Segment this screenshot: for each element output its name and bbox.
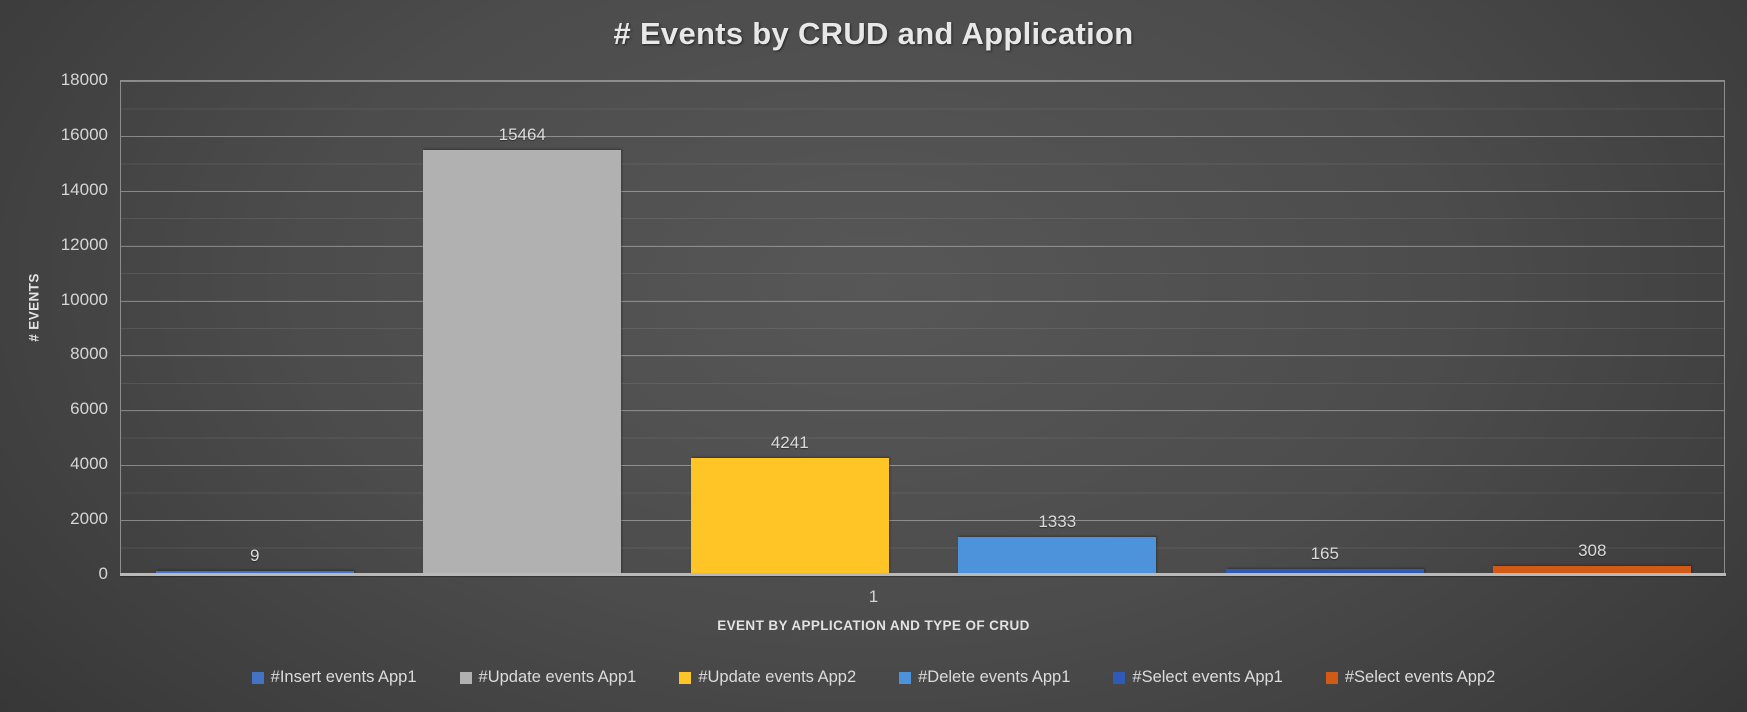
bar-value-label: 1333 xyxy=(1038,512,1076,532)
gridline xyxy=(121,191,1724,192)
minor-gridlines xyxy=(121,81,1724,574)
legend-item[interactable]: #Update events App1 xyxy=(460,668,637,687)
legend-label: #Update events App1 xyxy=(479,668,637,687)
plot-area: 91546442411333165308 xyxy=(120,80,1725,574)
legend-label: #Delete events App1 xyxy=(918,668,1070,687)
legend-swatch-icon xyxy=(679,672,691,684)
chart-title: # Events by CRUD and Application xyxy=(0,16,1747,52)
bar-value-label: 165 xyxy=(1311,544,1339,564)
y-axis-tick-label: 14000 xyxy=(8,180,108,200)
major-gridlines xyxy=(121,81,1724,574)
legend-item[interactable]: #Select events App2 xyxy=(1326,668,1495,687)
legend-item[interactable]: #Select events App1 xyxy=(1113,668,1282,687)
legend-swatch-icon xyxy=(1326,672,1338,684)
bar-value-label: 308 xyxy=(1578,541,1606,561)
legend-label: #Select events App1 xyxy=(1132,668,1282,687)
chart-container: # Events by CRUD and Application # EVENT… xyxy=(0,0,1747,712)
gridline xyxy=(121,246,1724,247)
bar[interactable] xyxy=(423,150,621,574)
y-axis-tick-label: 4000 xyxy=(8,454,108,474)
x-axis-baseline xyxy=(120,573,1726,576)
gridline xyxy=(121,136,1724,137)
legend-swatch-icon xyxy=(1113,672,1125,684)
gridline xyxy=(121,81,1724,82)
legend-item[interactable]: #Delete events App1 xyxy=(899,668,1070,687)
gridline xyxy=(121,410,1724,411)
legend-swatch-icon xyxy=(252,672,264,684)
y-axis-tick-label: 6000 xyxy=(8,399,108,419)
y-axis-tick-label: 12000 xyxy=(8,235,108,255)
y-axis-tick-label: 2000 xyxy=(8,509,108,529)
legend-item[interactable]: #Insert events App1 xyxy=(252,668,417,687)
y-axis-tick-label: 16000 xyxy=(8,125,108,145)
y-axis-tick-label: 10000 xyxy=(8,290,108,310)
legend-swatch-icon xyxy=(460,672,472,684)
bar[interactable] xyxy=(958,537,1156,574)
x-axis-title: EVENT BY APPLICATION AND TYPE OF CRUD xyxy=(0,618,1747,633)
legend-label: #Select events App2 xyxy=(1345,668,1495,687)
legend-label: #Update events App2 xyxy=(698,668,856,687)
gridline xyxy=(121,520,1724,521)
bar-value-label: 15464 xyxy=(499,125,546,145)
bar-value-label: 9 xyxy=(250,546,259,566)
gridline xyxy=(121,465,1724,466)
y-axis-tick-label: 18000 xyxy=(8,70,108,90)
x-axis-category-label: 1 xyxy=(0,587,1747,607)
bar[interactable] xyxy=(691,458,889,574)
legend-item[interactable]: #Update events App2 xyxy=(679,668,856,687)
gridline xyxy=(121,355,1724,356)
bar-value-label: 4241 xyxy=(771,433,809,453)
legend-swatch-icon xyxy=(899,672,911,684)
y-axis-tick-label: 8000 xyxy=(8,344,108,364)
legend-label: #Insert events App1 xyxy=(271,668,417,687)
y-axis-tick-label: 0 xyxy=(8,564,108,584)
gridline xyxy=(121,301,1724,302)
chart-legend: #Insert events App1#Update events App1#U… xyxy=(0,668,1747,687)
